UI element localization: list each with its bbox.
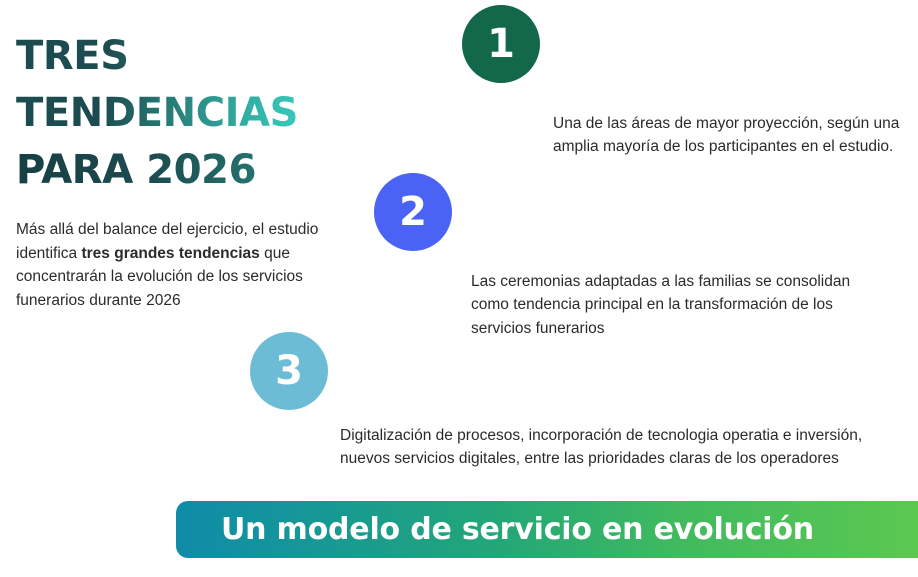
intro-paragraph: Más allá del balance del ejercicio, el e… [16,218,352,312]
trend-3-number: 3 [275,351,303,391]
trend-2-description: Las ceremonias adaptadas a las familias … [471,270,891,341]
trend-2-number: 2 [399,192,427,232]
trend-1-title: CONSOLIDACIÓN DE LA CREMACION [554,34,869,54]
trend-2-number-badge: 2 [374,173,452,251]
trend-3-description: Digitalización de procesos, incorporació… [340,424,880,471]
headline-line-1: Tres Tendencias [16,33,298,136]
trend-3-number-badge: 3 [250,332,328,410]
page-title: Tres Tendencias Para 2026 [16,28,364,198]
headline-line-2: Para 2026 [16,142,364,199]
trend-3-title: MODERNIZACIÓN TECNOLÓGICA [344,361,625,381]
conclusion-banner-text: Un modelo de servicio en evolución [221,512,814,547]
trend-1-number-badge: 1 [462,5,540,83]
trend-2-title: PERSONALIZACIÓN DE LAS DESPEDIDAS [470,202,823,222]
trend-1-number: 1 [487,24,515,64]
intro-text-emphasis: tres grandes tendencias [81,245,259,262]
conclusion-banner: Un modelo de servicio en evolución [176,501,918,558]
trend-1-description: Una de las áreas de mayor proyección, se… [553,112,903,159]
intro-column: Tres Tendencias Para 2026 Más allá del b… [16,28,364,313]
